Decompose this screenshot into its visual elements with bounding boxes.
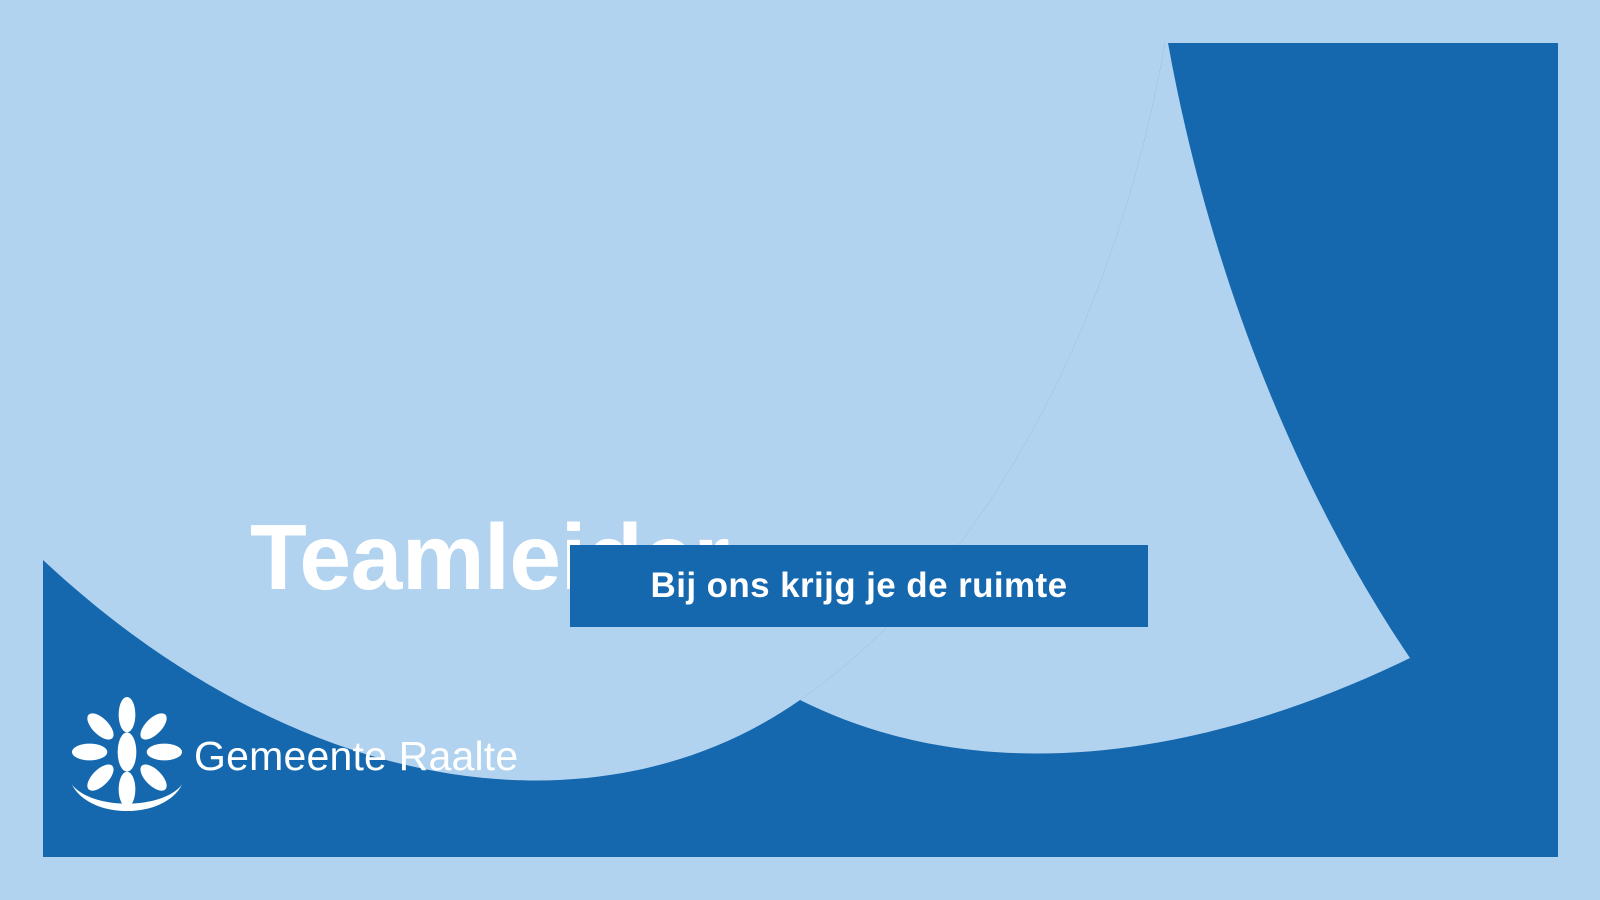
petal-right <box>147 744 182 761</box>
cta-button-label: Bij ons krijg je de ruimte <box>651 566 1068 606</box>
petal-bottom-right <box>136 760 171 795</box>
petal-top-left <box>83 709 118 744</box>
petal-bottom-left <box>83 760 118 795</box>
cta-button[interactable]: Bij ons krijg je de ruimte <box>570 545 1148 627</box>
page-title-line-2: Bedrijfsvoering <box>250 890 1150 900</box>
gemeente-raalte-flower-emblem-icon <box>68 694 186 812</box>
logo[interactable]: Gemeente Raalte <box>68 694 518 812</box>
petal-center <box>118 732 137 771</box>
vacancy-banner: Teamleider Bedrijfsvoering Bij ons krijg… <box>0 0 1600 900</box>
logo-wordmark: Gemeente Raalte <box>194 733 518 780</box>
petal-left <box>72 744 107 761</box>
petal-bottom <box>119 772 136 807</box>
petal-top <box>119 697 136 732</box>
petal-top-right <box>136 709 171 744</box>
